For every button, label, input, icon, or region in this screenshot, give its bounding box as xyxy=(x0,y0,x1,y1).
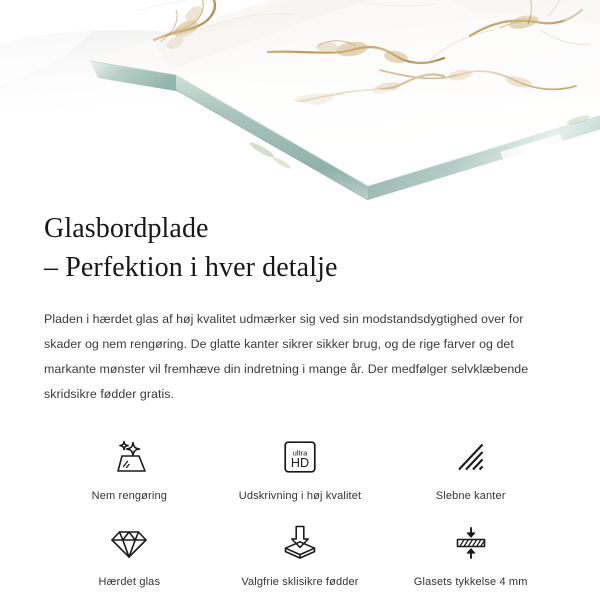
diamond-icon xyxy=(106,523,152,563)
feature-item-easy-cleaning: Nem rengøring xyxy=(44,437,215,503)
feature-item-print-quality: ultra HD Udskrivning i høj kvalitet xyxy=(215,437,386,503)
page-title: Glasbordplade – Perfektion i hver detalj… xyxy=(44,210,556,287)
product-description: Pladen i hærdet glas af høj kvalitet udm… xyxy=(44,307,556,406)
ultra-hd-bottom-text: HD xyxy=(291,456,309,470)
feature-label-polished-edges: Slebne kanter xyxy=(436,489,506,503)
feature-label-anti-slip-feet: Valgfrie sklisikre fødder xyxy=(241,575,358,589)
polished-edges-icon xyxy=(448,437,494,477)
feature-item-glass-thickness: Glasets tykkelse 4 mm xyxy=(385,523,556,589)
sparkle-tabletop-icon xyxy=(106,437,152,477)
feature-label-print-quality: Udskrivning i høj kvalitet xyxy=(239,489,362,503)
content-section: Glasbordplade – Perfektion i hver detalj… xyxy=(0,210,600,589)
feature-label-easy-cleaning: Nem rengøring xyxy=(92,489,167,503)
feature-item-anti-slip-feet: Valgfrie sklisikre fødder xyxy=(215,523,386,589)
feature-item-tempered-glass: Hærdet glas xyxy=(44,523,215,589)
arrow-onto-pad-icon xyxy=(277,523,323,563)
feature-label-tempered-glass: Hærdet glas xyxy=(99,575,161,589)
thickness-arrows-icon xyxy=(448,523,494,563)
feature-grid: Nem rengøring ultra HD Udskrivning i høj… xyxy=(44,437,556,590)
feature-label-glass-thickness: Glasets tykkelse 4 mm xyxy=(414,575,528,589)
hero-image xyxy=(0,0,600,200)
glass-tabletop-photo xyxy=(0,0,600,200)
ultra-hd-icon: ultra HD xyxy=(277,437,323,477)
feature-item-polished-edges: Slebne kanter xyxy=(385,437,556,503)
